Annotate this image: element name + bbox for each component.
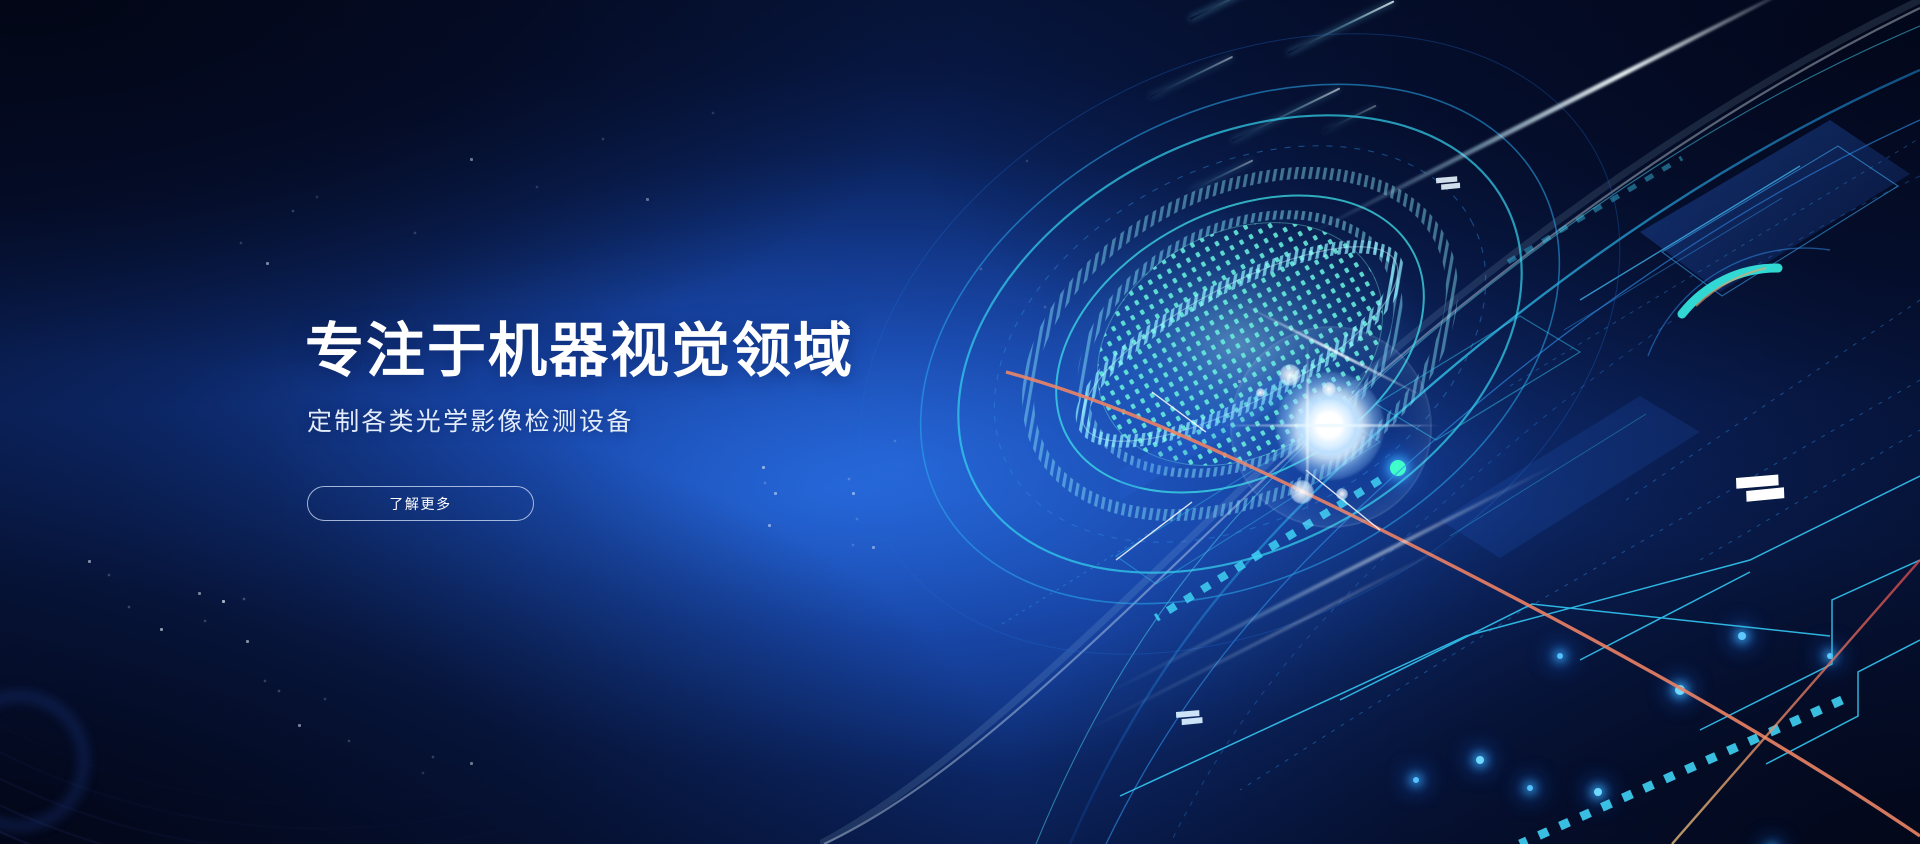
learn-more-button[interactable]: 了解更多 — [307, 486, 534, 521]
hero-banner: 专注于机器视觉领域 定制各类光学影像检测设备 了解更多 — [0, 0, 1920, 844]
hero-content: 专注于机器视觉领域 定制各类光学影像检测设备 了解更多 — [305, 320, 854, 521]
page-subtitle: 定制各类光学影像检测设备 — [307, 406, 854, 439]
chevron-marker — [1732, 462, 1788, 515]
page-title: 专注于机器视觉领域 — [305, 320, 854, 384]
hud-circuit-overlay — [820, 0, 1920, 844]
